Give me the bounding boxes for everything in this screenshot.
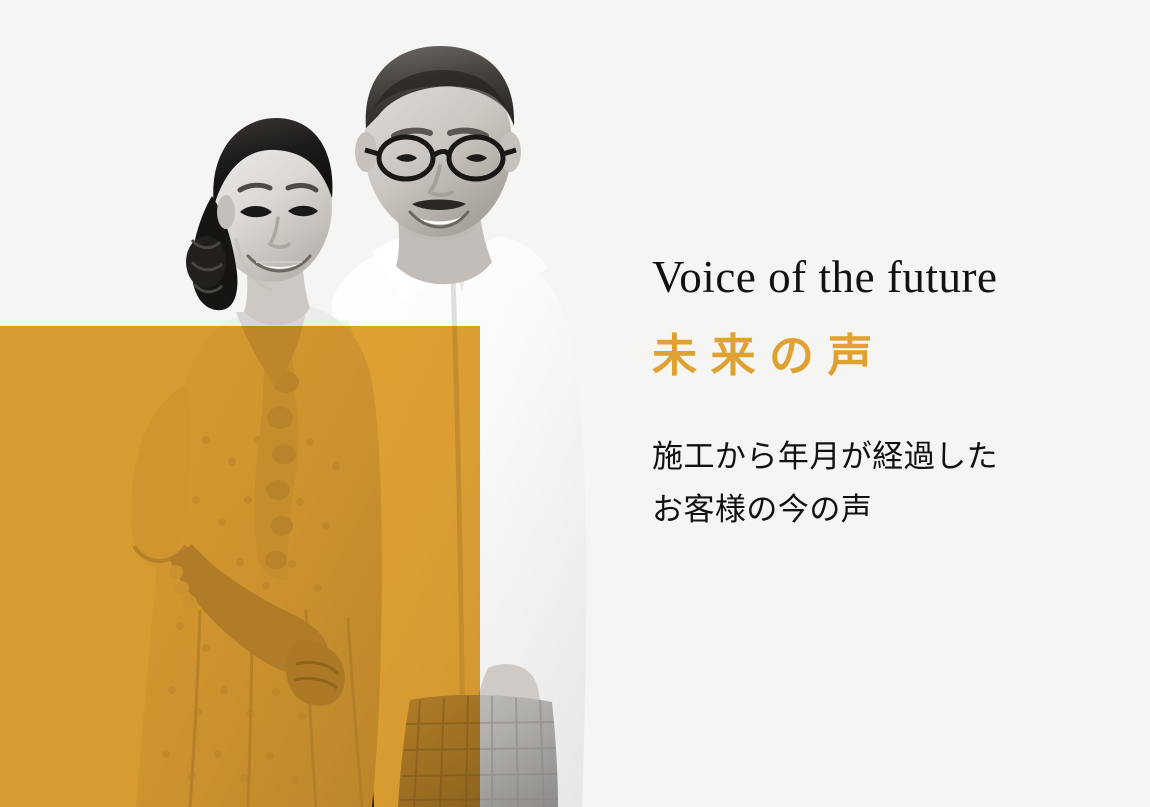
hero-text-block: Voice of the future 未来の声 施工から年月が経過した お客様… xyxy=(652,255,1112,537)
couple-photo xyxy=(0,0,640,807)
hero-lead-line-1: 施工から年月が経過した xyxy=(652,430,1112,483)
couple-photo-illustration xyxy=(0,0,640,807)
hero-lead-line-2: お客様の今の声 xyxy=(652,483,1112,536)
hero-title-japanese: 未来の声 xyxy=(652,333,1112,378)
hero-lead-text: 施工から年月が経過した お客様の今の声 xyxy=(652,430,1112,537)
hero-eyebrow-english: Voice of the future xyxy=(652,255,1112,300)
hero-banner: Voice of the future 未来の声 施工から年月が経過した お客様… xyxy=(0,0,1150,807)
